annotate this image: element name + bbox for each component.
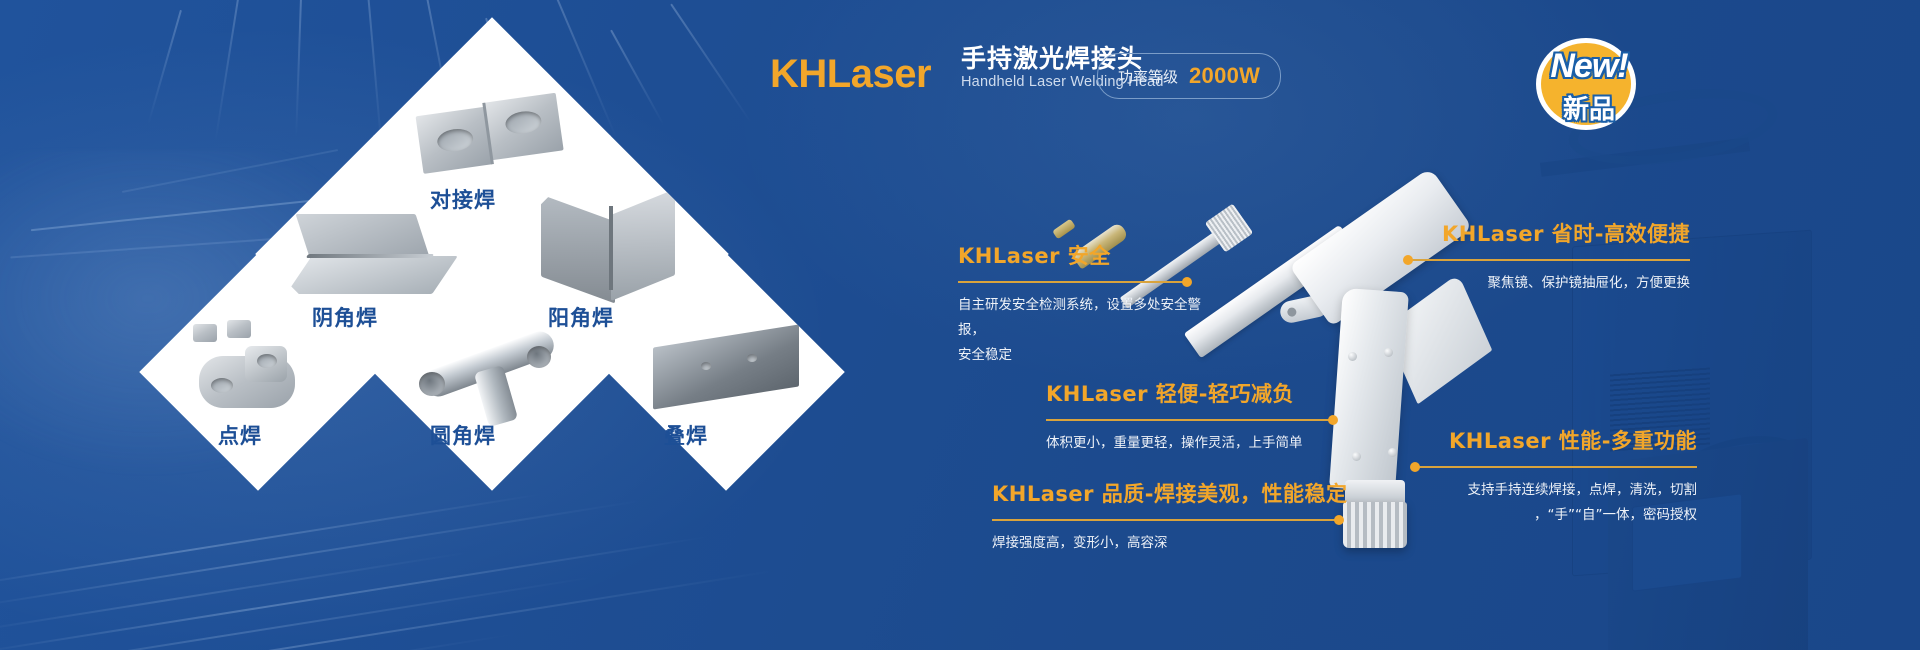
weld-sample-outside-corner: [535, 198, 685, 310]
feature-title-time-saving: KHLaser 省时-高效便捷: [1405, 218, 1690, 248]
background-laser-machine: [1550, 120, 1880, 640]
new-badge-text-cn: 新品: [1533, 89, 1645, 126]
power-rating-value: 2000W: [1189, 63, 1260, 89]
gun-screw: [1352, 452, 1361, 461]
weld-label-butt-weld: 对接焊: [430, 184, 496, 214]
weld-label-fillet-weld: 圆角焊: [430, 420, 496, 450]
power-rating-label: 功率等级: [1118, 66, 1178, 87]
feature-callout-performance: KHLaser 性能-多重功能 支持手持连续焊接，点焊，清洗，切割 ，“手”“自…: [1412, 425, 1697, 528]
feature-desc-quality: 焊接强度高，变形小，高容深: [992, 531, 1342, 556]
new-product-badge: New! 新品: [1533, 31, 1645, 133]
feature-desc-safety: 自主研发安全检测系统，设置多处安全警报， 安全稳定: [958, 293, 1208, 368]
feature-callout-time-saving: KHLaser 省时-高效便捷 聚焦镜、保护镜抽屉化，方便更换: [1405, 218, 1690, 296]
feature-title-safety: KHLaser 安全: [958, 240, 1190, 270]
gun-protective-cap: [1343, 502, 1407, 548]
weld-label-outside-corner: 阳角焊: [548, 302, 614, 332]
power-rating-badge: 功率等级 2000W: [1097, 53, 1281, 99]
feature-rule: [992, 515, 1342, 525]
gun-grip: [1329, 288, 1409, 492]
weld-sample-butt-weld: [410, 70, 574, 202]
weld-sample-inside-corner: [299, 198, 449, 310]
gun-screw: [1384, 348, 1393, 357]
feature-rule: [1046, 415, 1336, 425]
feature-desc-lightweight: 体积更小，重量更轻，操作灵活，上手简单: [1046, 431, 1336, 456]
brand-logo: KHLaser: [770, 54, 931, 94]
weld-label-inside-corner: 阴角焊: [312, 302, 378, 332]
new-badge-text-en: New!: [1533, 47, 1645, 86]
gun-screw: [1388, 448, 1397, 457]
weld-label-lap-weld: 叠焊: [664, 420, 708, 450]
feature-rule: [1405, 255, 1690, 265]
feature-callout-lightweight: KHLaser 轻便-轻巧减负 体积更小，重量更轻，操作灵活，上手简单: [1046, 378, 1336, 456]
weld-type-diamond-grid: 对接焊 阴角焊 阳角焊: [212, 52, 772, 532]
feature-title-lightweight: KHLaser 轻便-轻巧减负: [1046, 378, 1336, 408]
weld-sample-lap-weld: [651, 316, 801, 428]
feature-rule: [958, 277, 1190, 287]
gun-screw: [1348, 352, 1357, 361]
feature-desc-performance: 支持手持连续焊接，点焊，清洗，切割 ，“手”“自”一体，密码授权: [1412, 478, 1697, 528]
weld-label-spot-weld: 点焊: [218, 420, 262, 450]
gun-nozzle-tip: [1052, 219, 1076, 240]
weld-sample-fillet-weld: [417, 316, 567, 428]
feature-desc-time-saving: 聚焦镜、保护镜抽屉化，方便更换: [1405, 271, 1690, 296]
feature-title-performance: KHLaser 性能-多重功能: [1412, 425, 1697, 455]
feature-callout-quality: KHLaser 品质-焊接美观，性能稳定 焊接强度高，变形小，高容深: [992, 478, 1342, 556]
weld-sample-spot-weld: [183, 316, 333, 428]
feature-title-quality: KHLaser 品质-焊接美观，性能稳定: [992, 478, 1342, 508]
feature-callout-safety: KHLaser 安全 自主研发安全检测系统，设置多处安全警报， 安全稳定: [958, 240, 1190, 368]
feature-rule: [1412, 462, 1697, 472]
